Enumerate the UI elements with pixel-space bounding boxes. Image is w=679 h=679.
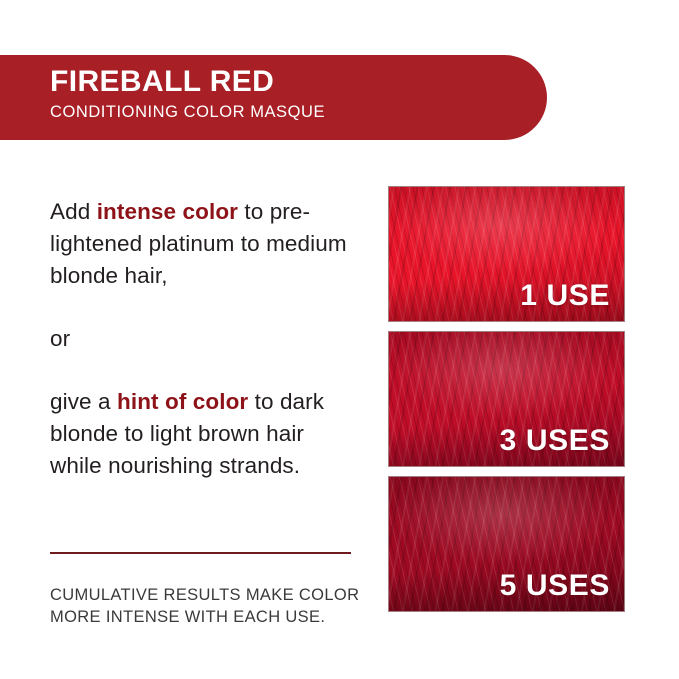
copy-paragraph-intense: Add intense color to pre-lightened plati… bbox=[50, 196, 360, 292]
copy-lead-1: Add bbox=[50, 199, 97, 224]
swatch-label-1: 1 USE bbox=[520, 281, 610, 311]
hair-swatch-3-uses: 3 USES bbox=[388, 331, 625, 467]
page-title: FIREBALL RED bbox=[50, 66, 547, 98]
copy-paragraph-hint: give a hint of color to dark blonde to l… bbox=[50, 386, 360, 482]
header-banner: FIREBALL RED CONDITIONING COLOR MASQUE bbox=[0, 55, 547, 140]
cumulative-results-note: CUMULATIVE RESULTS MAKE COLOR MORE INTEN… bbox=[50, 585, 370, 629]
hair-swatch-stack: 1 USE 3 USES 5 USES bbox=[388, 186, 625, 612]
section-divider bbox=[50, 552, 351, 554]
copy-column: Add intense color to pre-lightened plati… bbox=[50, 196, 360, 482]
copy-emphasis-intense-color: intense color bbox=[97, 199, 238, 224]
copy-emphasis-hint-of-color: hint of color bbox=[117, 389, 248, 414]
copy-connector-or: or bbox=[50, 323, 360, 355]
hair-swatch-5-uses: 5 USES bbox=[388, 476, 625, 612]
page-subtitle: CONDITIONING COLOR MASQUE bbox=[50, 102, 547, 123]
swatch-label-2: 3 USES bbox=[500, 426, 610, 456]
hair-swatch-1-use: 1 USE bbox=[388, 186, 625, 322]
swatch-label-3: 5 USES bbox=[500, 571, 610, 601]
copy-lead-2: give a bbox=[50, 389, 117, 414]
